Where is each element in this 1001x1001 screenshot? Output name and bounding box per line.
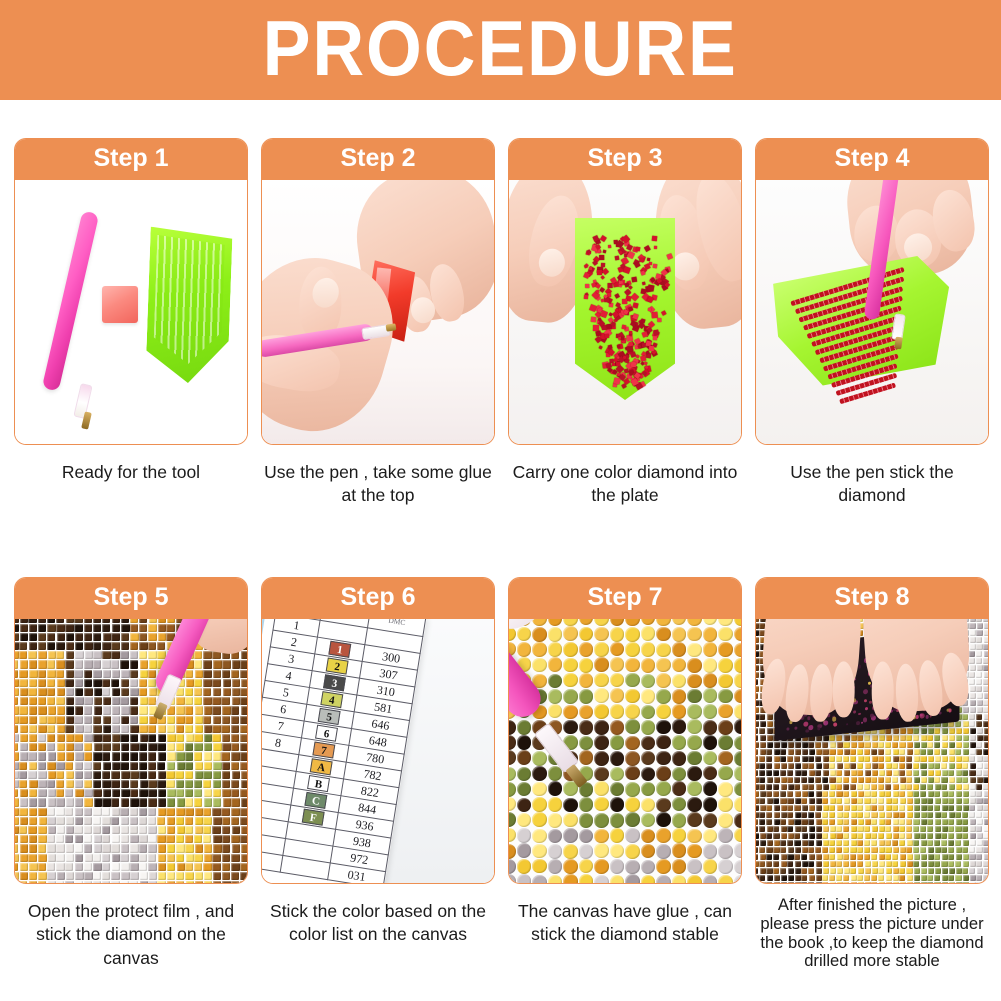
step-1-photo [15, 180, 247, 444]
step-1-caption: Ready for the tool [14, 461, 248, 484]
left-hand-icon [759, 619, 865, 718]
step-2-caption: Use the pen , take some glue at the top [261, 461, 495, 508]
page-title: PROCEDURE [263, 9, 738, 91]
step-4-photo [756, 180, 988, 444]
step-card-5: Step 5 Open the protect film , and stick… [14, 577, 248, 970]
step-card-2: Step 2 [261, 138, 495, 508]
step-card-4: Step 4 Use t [755, 138, 989, 508]
step-8-badge-label: Step 8 [834, 585, 909, 612]
step-3-card: Step 3 [508, 138, 742, 445]
symbol-chip: 7 [313, 741, 336, 758]
symbol-chip: 5 [318, 707, 341, 724]
step-3-badge-label: Step 3 [587, 146, 662, 173]
step-7-caption: The canvas have glue , can stick the dia… [508, 900, 742, 947]
step-8-card: Step 8 [755, 577, 989, 884]
step-5-badge-label: Step 5 [93, 585, 168, 612]
step-5-photo [15, 619, 247, 883]
symbol-chip: C [305, 791, 328, 808]
red-diamonds-scatter [575, 218, 675, 400]
step-3-caption: Carry one color diamond into the plate [508, 461, 742, 508]
symbol-chip: 4 [321, 691, 344, 708]
step-1-card: Step 1 [14, 138, 248, 445]
step-4-badge-label: Step 4 [834, 146, 909, 173]
step-2-card: Step 2 [261, 138, 495, 445]
step-card-8: Step 8 [755, 577, 989, 971]
step-5-caption: Open the protect film , and stick the di… [14, 900, 248, 970]
step-1-badge: Step 1 [15, 139, 247, 180]
step-6-card: Step 6 Strands Symbol DMC [261, 577, 495, 884]
right-hand-icon [859, 619, 973, 714]
symbol-chip: 6 [315, 724, 338, 741]
step-7-photo [509, 619, 741, 883]
symbol-chip: A [310, 758, 333, 775]
step-6-caption: Stick the color based on the color list … [261, 900, 495, 947]
step-2-badge: Step 2 [262, 139, 494, 180]
step-card-7: Step 7 The canvas have glue , can stick … [508, 577, 742, 947]
step-7-badge: Step 7 [509, 578, 741, 619]
step-6-photo: Strands Symbol DMC 121300323074331054581… [262, 619, 494, 883]
step-5-card: Step 5 [14, 577, 248, 884]
symbol-chip: B [307, 775, 330, 792]
step-card-3: Step 3 Car [508, 138, 742, 508]
step-8-photo [756, 619, 988, 883]
step-2-photo [262, 180, 494, 444]
step-6-badge: Step 6 [262, 578, 494, 619]
page-header-banner: PROCEDURE [0, 0, 1001, 100]
glue-square-icon [102, 286, 138, 323]
step-card-1: Step 1 Ready for the tool [14, 138, 248, 484]
step-3-badge: Step 3 [509, 139, 741, 180]
round-drills-closeup [509, 619, 741, 883]
step-2-badge-label: Step 2 [340, 146, 415, 173]
step-8-badge: Step 8 [756, 578, 988, 619]
step-4-caption: Use the pen stick the diamond [755, 461, 989, 508]
step-8-caption: After finished the picture , please pres… [755, 896, 989, 971]
step-4-badge: Step 4 [756, 139, 988, 180]
step-1-badge-label: Step 1 [93, 146, 168, 173]
symbol-chip: 2 [326, 657, 349, 674]
symbol-chip: 1 [329, 640, 352, 657]
step-4-card: Step 4 [755, 138, 989, 445]
symbol-chip: 3 [323, 674, 346, 691]
step-6-badge-label: Step 6 [340, 585, 415, 612]
procedure-steps-grid: Step 1 Ready for the tool Step 2 [0, 100, 1001, 1001]
step-5-badge: Step 5 [15, 578, 247, 619]
step-7-card: Step 7 [508, 577, 742, 884]
symbol-chip: F [302, 808, 325, 825]
step-card-6: Step 6 Strands Symbol DMC [261, 577, 495, 947]
step-7-badge-label: Step 7 [587, 585, 662, 612]
step-3-photo [509, 180, 741, 444]
sunflower-mosaic-canvas [15, 619, 247, 883]
